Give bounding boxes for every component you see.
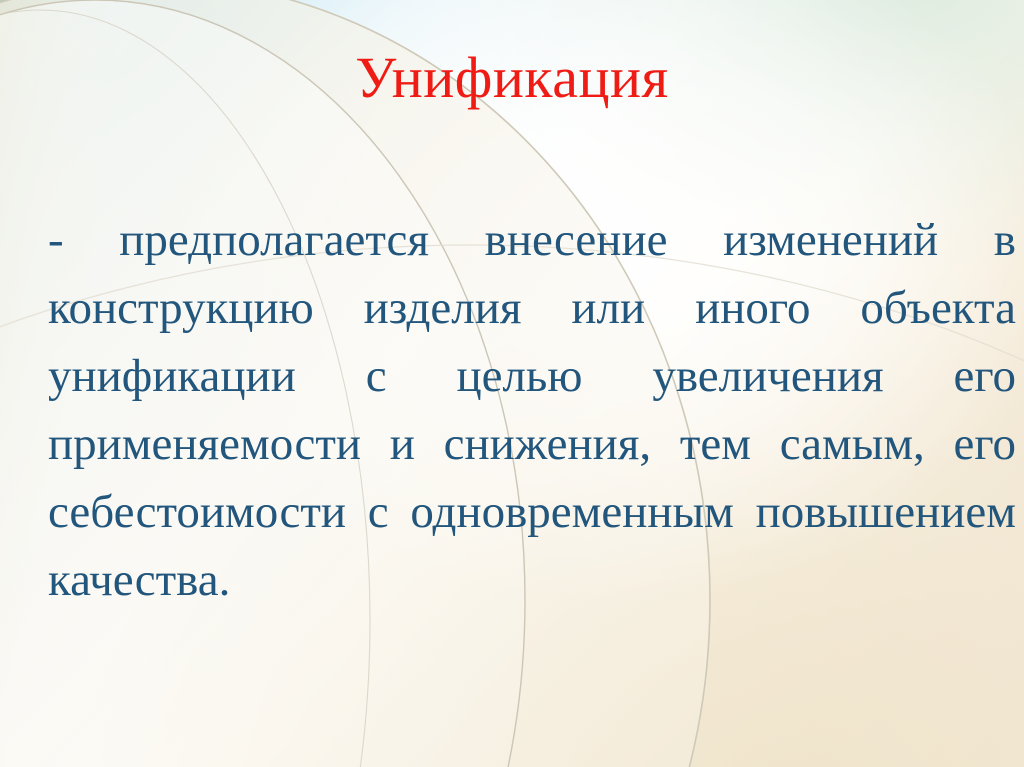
presentation-slide: Унификация - предполагается внесение изм…	[0, 0, 1024, 767]
slide-title: Унификация	[0, 48, 1024, 109]
slide-content: Унификация - предполагается внесение изм…	[0, 0, 1024, 767]
slide-body-text: - предполагается внесение изменений в ко…	[48, 206, 1016, 614]
